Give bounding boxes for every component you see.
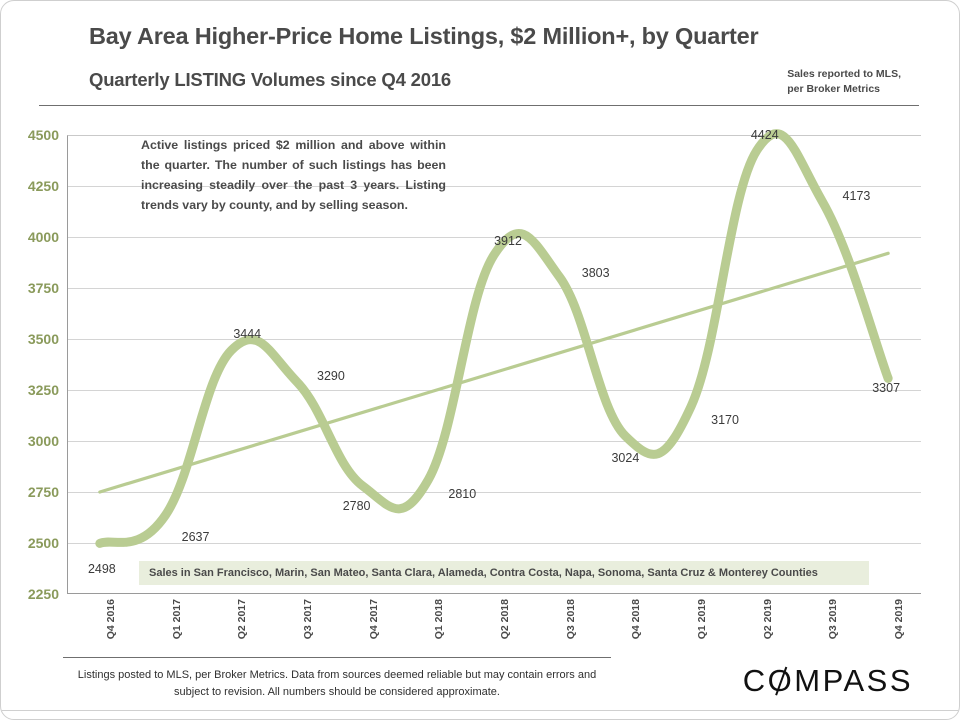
y-axis-tick-label: 2250 bbox=[28, 586, 59, 602]
logo-slashed-o-icon: O bbox=[768, 663, 795, 699]
y-axis-tick-label: 2750 bbox=[28, 484, 59, 500]
header-divider bbox=[39, 105, 919, 106]
data-point-label: 4424 bbox=[751, 128, 779, 142]
y-axis: 4500425040003750350032503000275025002250 bbox=[1, 135, 59, 594]
x-axis-tick-label: Q3 2017 bbox=[302, 599, 314, 639]
data-point-label: 2810 bbox=[448, 487, 476, 501]
chart-subtitle: Quarterly LISTING Volumes since Q4 2016 bbox=[89, 69, 451, 91]
counties-legend-box: Sales in San Francisco, Marin, San Mateo… bbox=[139, 561, 869, 585]
data-point-label: 2780 bbox=[343, 499, 371, 513]
y-axis-tick-label: 2500 bbox=[28, 535, 59, 551]
data-point-label: 3290 bbox=[317, 369, 345, 383]
x-axis-tick-label: Q3 2018 bbox=[565, 599, 577, 639]
chart-page: Bay Area Higher-Price Home Listings, $2 … bbox=[0, 0, 960, 720]
x-axis-tick-label: Q4 2016 bbox=[105, 599, 117, 639]
y-axis-tick-label: 4000 bbox=[28, 229, 59, 245]
data-point-label: 4173 bbox=[843, 189, 871, 203]
y-axis-tick-label: 3250 bbox=[28, 382, 59, 398]
y-axis-tick-label: 3750 bbox=[28, 280, 59, 296]
y-axis-tick-label: 4500 bbox=[28, 127, 59, 143]
x-axis-tick-label: Q2 2018 bbox=[499, 599, 511, 639]
x-axis-tick-label: Q2 2017 bbox=[236, 599, 248, 639]
compass-logo: COMPASS bbox=[743, 663, 913, 699]
data-point-label: 3170 bbox=[711, 413, 739, 427]
y-axis-tick-label: 4250 bbox=[28, 178, 59, 194]
x-axis-tick-label: Q4 2019 bbox=[893, 599, 905, 639]
data-point-label: 2498 bbox=[88, 562, 116, 576]
page-bottom-rule bbox=[1, 710, 960, 711]
x-axis-tick-label: Q2 2019 bbox=[762, 599, 774, 639]
data-point-label: 3803 bbox=[582, 266, 610, 280]
x-axis-tick-label: Q1 2018 bbox=[433, 599, 445, 639]
data-point-label: 3912 bbox=[494, 234, 522, 248]
data-point-label: 3307 bbox=[872, 381, 900, 395]
y-axis-tick-label: 3000 bbox=[28, 433, 59, 449]
page-title: Bay Area Higher-Price Home Listings, $2 … bbox=[89, 23, 758, 50]
data-point-label: 2637 bbox=[182, 530, 210, 544]
source-note-line-1: Sales reported to MLS, bbox=[787, 67, 901, 82]
source-note: Sales reported to MLS, per Broker Metric… bbox=[787, 67, 901, 97]
x-axis-tick-label: Q4 2017 bbox=[368, 599, 380, 639]
footer-note: Listings posted to MLS, per Broker Metri… bbox=[63, 667, 611, 700]
counties-legend-label: Sales in San Francisco, Marin, San Mateo… bbox=[149, 567, 818, 579]
data-point-label: 3444 bbox=[233, 327, 261, 341]
source-note-line-2: per Broker Metrics bbox=[787, 82, 901, 97]
data-point-label: 3024 bbox=[611, 451, 639, 465]
x-axis-tick-label: Q3 2019 bbox=[827, 599, 839, 639]
x-axis-tick-label: Q1 2017 bbox=[171, 599, 183, 639]
x-axis-tick-label: Q4 2018 bbox=[630, 599, 642, 639]
x-axis-tick-label: Q1 2019 bbox=[696, 599, 708, 639]
x-axis: Q4 2016Q1 2017Q2 2017Q3 2017Q4 2017Q1 20… bbox=[67, 599, 921, 647]
logo-suffix: MPASS bbox=[794, 663, 913, 699]
footer-divider bbox=[63, 657, 611, 658]
annotation-text: Active listings priced $2 million and ab… bbox=[141, 135, 446, 215]
y-axis-tick-label: 3500 bbox=[28, 331, 59, 347]
logo-prefix: C bbox=[743, 663, 768, 699]
